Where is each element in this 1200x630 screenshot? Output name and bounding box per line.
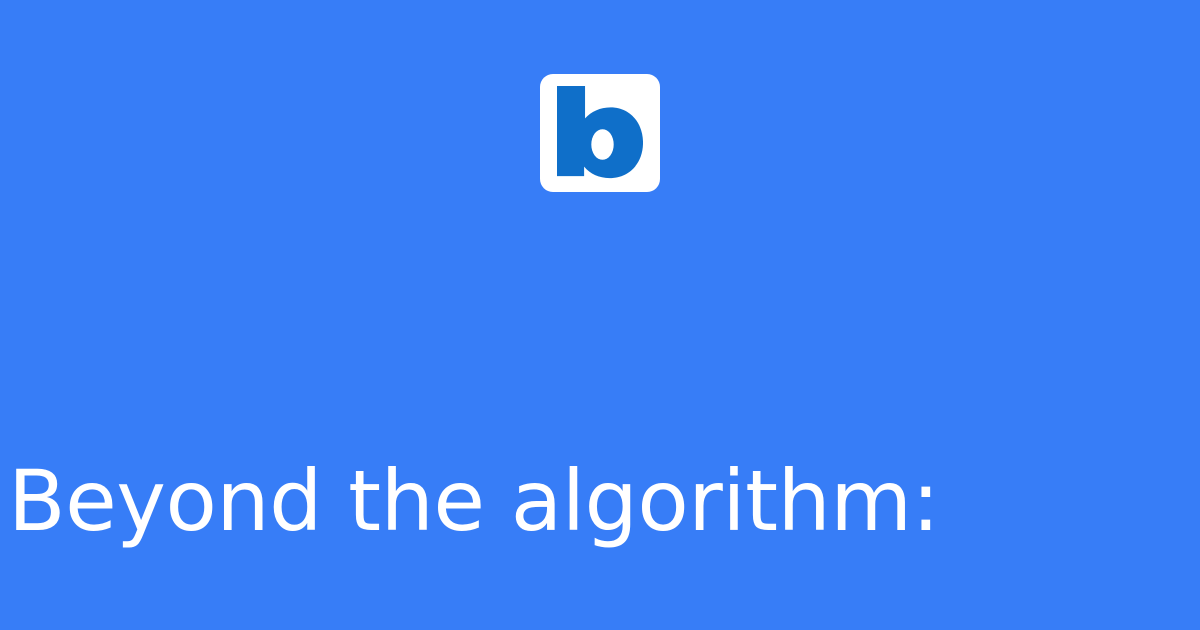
page-title: Beyond the algorithm: decoding the macro… [8, 238, 1192, 630]
social-share-card: Beyond the algorithm: decoding the macro… [0, 0, 1200, 630]
brand-logo-tile[interactable] [540, 74, 660, 192]
headline-line-1: Beyond the algorithm: [8, 449, 1192, 555]
letter-b-icon [557, 85, 643, 181]
logo-container [0, 74, 1200, 192]
